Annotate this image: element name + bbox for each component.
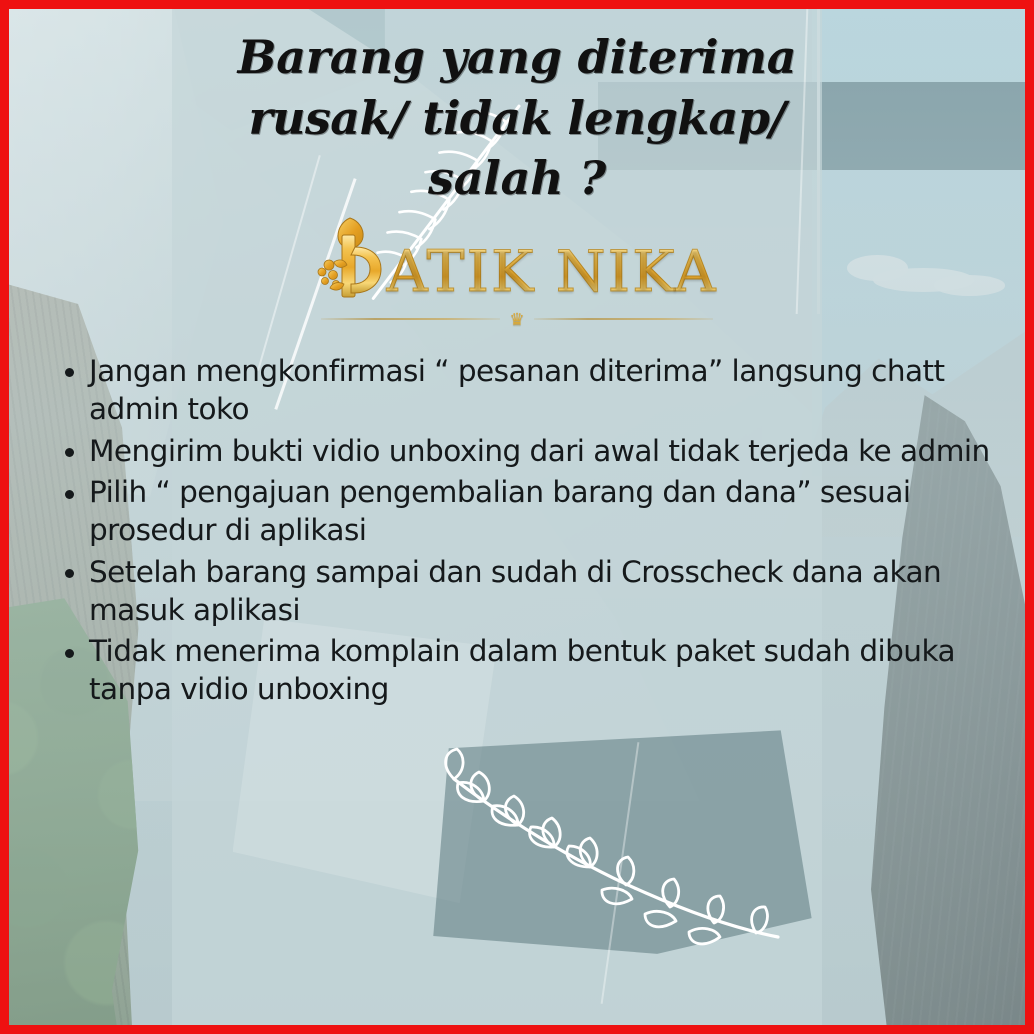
- headline-line-3: salah ?: [37, 148, 997, 209]
- ornate-b-monogram-icon: [316, 215, 386, 307]
- headline-line-2: rusak/ tidak lengkap/: [37, 88, 997, 149]
- list-item: Mengirim bukti vidio unboxing dari awal …: [63, 433, 993, 471]
- crown-glyph: ♛: [500, 311, 534, 328]
- policy-bullet-list: Jangan mengkonfirmasi “ pesanan diterima…: [37, 353, 997, 709]
- brand-row: ATIK NIKA: [302, 215, 732, 307]
- headline-line-1: Barang yang diterima: [37, 27, 997, 88]
- brand-wordmark: ATIK NIKA: [386, 244, 717, 307]
- page-title: Barang yang diterima rusak/ tidak lengka…: [37, 27, 997, 209]
- list-item: Tidak menerima komplain dalam bentuk pak…: [63, 633, 993, 709]
- list-item: Pilih “ pengajuan pengembalian barang da…: [63, 474, 993, 550]
- divider-segment-right: [534, 318, 713, 320]
- crown-divider-icon: ♛: [321, 311, 713, 327]
- poster: Barang yang diterima rusak/ tidak lengka…: [0, 0, 1034, 1034]
- content-column: Barang yang diterima rusak/ tidak lengka…: [9, 9, 1025, 1025]
- list-item: Setelah barang sampai dan sudah di Cross…: [63, 554, 993, 630]
- divider-segment-left: [321, 318, 500, 320]
- brand-lockup: ATIK NIKA ♛: [302, 215, 732, 327]
- list-item: Jangan mengkonfirmasi “ pesanan diterima…: [63, 353, 993, 429]
